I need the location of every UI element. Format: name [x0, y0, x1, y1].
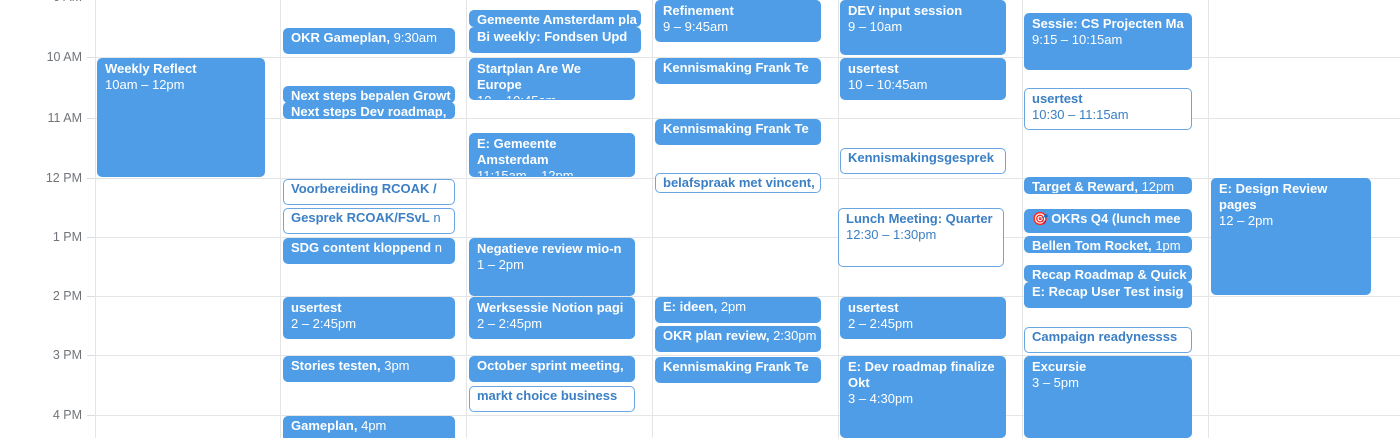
- calendar-event[interactable]: Voorbereiding RCOAK /: [283, 179, 455, 205]
- calendar-event[interactable]: OKR Gameplan, 9:30am: [283, 28, 455, 54]
- event-title: Next steps bepalen Growt: [291, 88, 451, 103]
- calendar-event[interactable]: Stories testen, 3pm: [283, 356, 455, 382]
- event-title: Weekly Reflect: [105, 61, 197, 76]
- event-title: Kennismaking Frank Te: [663, 60, 809, 75]
- event-title: E: ideen,: [663, 299, 717, 314]
- time-tick: [87, 415, 95, 416]
- calendar-event[interactable]: Excursie3 – 5pm: [1024, 356, 1192, 438]
- calendar-event[interactable]: SDG content kloppend n: [283, 238, 455, 264]
- event-title: Excursie: [1032, 359, 1086, 374]
- calendar-event[interactable]: usertest2 – 2:45pm: [283, 297, 455, 339]
- calendar-event[interactable]: E: Recap User Test insig: [1024, 282, 1192, 308]
- event-title: OKR Gameplan,: [291, 30, 390, 45]
- calendar-event[interactable]: usertest10 – 10:45am: [840, 58, 1006, 100]
- calendar-event[interactable]: markt choice business: [469, 386, 635, 412]
- grid-day-divider: [280, 0, 281, 438]
- calendar-event[interactable]: Kennismaking Frank Te: [655, 119, 821, 145]
- event-title: OKRs Q4 (lunch mee: [1051, 211, 1180, 226]
- grid-day-divider: [1208, 0, 1209, 438]
- event-title: Stories testen,: [291, 358, 381, 373]
- event-title: OKR plan review,: [663, 328, 769, 343]
- event-title: Campaign readynessss: [1032, 329, 1177, 344]
- event-title: Kennismaking Frank Te: [663, 359, 809, 374]
- event-title: belafspraak met vincent,: [663, 175, 815, 190]
- time-label: 4 PM: [53, 409, 82, 421]
- event-title: usertest: [291, 300, 342, 315]
- event-title: SDG content kloppend: [291, 240, 431, 255]
- calendar-event[interactable]: Bi weekly: Fondsen Upd: [469, 27, 641, 53]
- calendar-event[interactable]: belafspraak met vincent,: [655, 173, 821, 193]
- event-time: 12pm: [1142, 179, 1175, 194]
- event-time: 12:30 – 1:30pm: [846, 227, 998, 243]
- time-tick: [87, 237, 95, 238]
- calendar-event[interactable]: E: ideen, 2pm: [655, 297, 821, 323]
- time-tick: [87, 355, 95, 356]
- grid-day-divider: [652, 0, 653, 438]
- time-label: 3 PM: [53, 349, 82, 361]
- event-title: Gameplan,: [291, 418, 357, 433]
- time-label: 11 AM: [47, 112, 82, 124]
- calendar-event[interactable]: Sessie: CS Projecten Ma9:15 – 10:15am: [1024, 13, 1192, 70]
- event-title: October sprint meeting,: [477, 358, 624, 373]
- event-title: Lunch Meeting: Quarter: [846, 211, 993, 226]
- calendar-event[interactable]: E: Gemeente Amsterdam11:15am – 12pm: [469, 133, 635, 177]
- event-time: 3 – 5pm: [1032, 375, 1186, 391]
- event-title: markt choice business: [477, 388, 617, 403]
- time-tick: [87, 118, 95, 119]
- event-title: Target & Reward,: [1032, 179, 1138, 194]
- event-title: Gemeente Amsterdam pla: [477, 12, 637, 27]
- calendar-event[interactable]: E: Design Review pages12 – 2pm: [1211, 178, 1371, 295]
- calendar-event[interactable]: Lunch Meeting: Quarter12:30 – 1:30pm: [838, 208, 1004, 267]
- event-title: Refinement: [663, 3, 734, 18]
- event-time: 12 – 2pm: [1219, 213, 1365, 229]
- event-time: 3 – 4:30pm: [848, 391, 1000, 407]
- calendar-event[interactable]: DEV input session9 – 10am: [840, 0, 1006, 55]
- calendar-event[interactable]: Negatieve review mio-n1 – 2pm: [469, 238, 635, 296]
- time-label: 2 PM: [53, 290, 82, 302]
- event-time: 10:30 – 11:15am: [1032, 107, 1186, 123]
- event-time: n: [435, 240, 442, 255]
- calendar-event[interactable]: Next steps Dev roadmap,: [283, 102, 455, 119]
- event-title: usertest: [848, 300, 899, 315]
- event-title: usertest: [1032, 91, 1083, 106]
- event-title: Voorbereiding RCOAK /: [291, 181, 437, 196]
- time-label: 12 PM: [46, 172, 82, 184]
- event-time: 9 – 10am: [848, 19, 1000, 35]
- calendar-event[interactable]: Gesprek RCOAK/FSvL n: [283, 208, 455, 234]
- event-title: Next steps Dev roadmap,: [291, 104, 446, 119]
- time-tick: [87, 296, 95, 297]
- event-title: Bi weekly: Fondsen Upd: [477, 29, 627, 44]
- event-title: E: Dev roadmap finalize Okt: [848, 359, 995, 390]
- time-tick: [87, 178, 95, 179]
- calendar-event[interactable]: Gemeente Amsterdam pla: [469, 10, 641, 27]
- event-time: 2 – 2:45pm: [291, 316, 449, 332]
- event-time: 9 – 9:45am: [663, 19, 815, 35]
- event-time: 2pm: [721, 299, 746, 314]
- event-title: Bellen Tom Rocket,: [1032, 238, 1152, 253]
- event-time: 4pm: [361, 418, 386, 433]
- calendar-event[interactable]: Refinement9 – 9:45am: [655, 0, 821, 42]
- event-time: 3pm: [384, 358, 409, 373]
- event-title: Kennismaking Frank Te: [663, 121, 809, 136]
- event-time: n: [433, 210, 440, 225]
- calendar-event[interactable]: Werksessie Notion pagi2 – 2:45pm: [469, 297, 635, 339]
- calendar-event[interactable]: Target & Reward, 12pm: [1024, 177, 1192, 194]
- event-time: 1pm: [1155, 238, 1180, 253]
- event-time: 9:30am: [394, 30, 437, 45]
- target-icon: 🎯: [1032, 211, 1048, 226]
- event-title: Werksessie Notion pagi: [477, 300, 623, 315]
- event-title: Startplan Are We Europe: [477, 61, 581, 92]
- event-time: 2:30pm: [773, 328, 816, 343]
- event-time: 10am – 12pm: [105, 77, 259, 93]
- time-label: 10 AM: [47, 51, 82, 63]
- grid-day-divider: [1022, 0, 1023, 438]
- event-title: DEV input session: [848, 3, 962, 18]
- calendar-event[interactable]: Kennismaking Frank Te: [655, 357, 821, 383]
- event-time: 1 – 2pm: [477, 257, 629, 273]
- calendar-event[interactable]: OKR plan review, 2:30pm: [655, 326, 821, 352]
- event-title: Kennismakingsgesprek: [848, 150, 994, 165]
- event-title: E: Recap User Test insig: [1032, 284, 1183, 299]
- event-time: 10 – 10:45am: [848, 77, 1000, 93]
- event-title: E: Gemeente Amsterdam: [477, 136, 556, 167]
- event-title: Sessie: CS Projecten Ma: [1032, 16, 1184, 31]
- calendar-event[interactable]: Campaign readynessss: [1024, 327, 1192, 353]
- event-title: usertest: [848, 61, 899, 76]
- event-time: 2 – 2:45pm: [848, 316, 1000, 332]
- calendar-event[interactable]: usertest10:30 – 11:15am: [1024, 88, 1192, 130]
- time-label: 9 AM: [54, 0, 83, 3]
- calendar-event[interactable]: October sprint meeting,: [469, 356, 635, 382]
- calendar-event[interactable]: Recap Roadmap & Quick: [1024, 265, 1192, 282]
- calendar-event[interactable]: usertest2 – 2:45pm: [840, 297, 1006, 339]
- calendar-event[interactable]: Weekly Reflect10am – 12pm: [97, 58, 265, 177]
- event-title: Gesprek RCOAK/FSvL: [291, 210, 430, 225]
- event-title: Recap Roadmap & Quick: [1032, 267, 1187, 282]
- event-time: 9:15 – 10:15am: [1032, 32, 1186, 48]
- calendar-event[interactable]: Kennismakingsgesprek: [840, 148, 1006, 174]
- event-title: E: Design Review pages: [1219, 181, 1327, 212]
- calendar-event[interactable]: 🎯OKRs Q4 (lunch mee: [1024, 209, 1192, 233]
- calendar-event[interactable]: Kennismaking Frank Te: [655, 58, 821, 84]
- event-time: 2 – 2:45pm: [477, 316, 629, 332]
- event-time: 10 – 10:45am: [477, 93, 629, 100]
- calendar-week-view: 9 AM10 AM11 AM12 PM1 PM2 PM3 PM4 PM Week…: [0, 0, 1400, 438]
- time-tick: [87, 57, 95, 58]
- calendar-event[interactable]: Gameplan, 4pm: [283, 416, 455, 438]
- calendar-event[interactable]: Startplan Are We Europe10 – 10:45am: [469, 58, 635, 100]
- calendar-event[interactable]: Bellen Tom Rocket, 1pm: [1024, 236, 1192, 253]
- time-gutter: 9 AM10 AM11 AM12 PM1 PM2 PM3 PM4 PM: [0, 0, 95, 438]
- time-label: 1 PM: [53, 231, 82, 243]
- grid-day-divider: [466, 0, 467, 438]
- calendar-event[interactable]: E: Dev roadmap finalize Okt3 – 4:30pm: [840, 356, 1006, 438]
- event-title: Negatieve review mio-n: [477, 241, 622, 256]
- calendar-event[interactable]: Next steps bepalen Growt: [283, 86, 455, 103]
- grid-day-divider: [95, 0, 96, 438]
- event-time: 11:15am – 12pm: [477, 168, 629, 177]
